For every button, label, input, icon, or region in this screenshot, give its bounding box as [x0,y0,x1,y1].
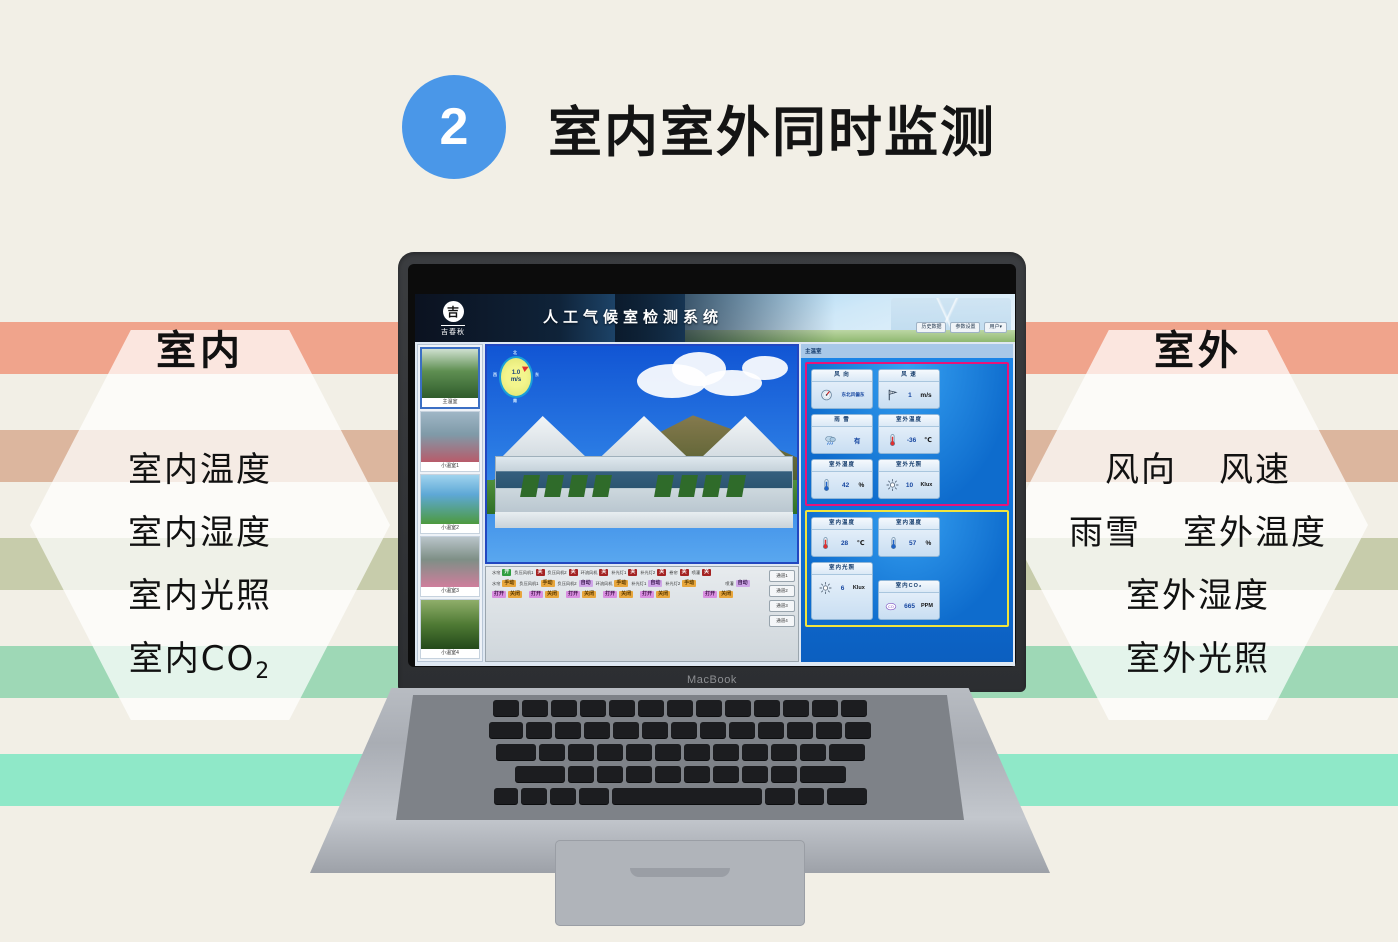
nav-history-button[interactable]: 历史数据 [916,322,946,333]
plant-bed [544,475,564,497]
open-button[interactable]: 打开 [603,591,617,598]
control-item[interactable]: 水帘 开 [492,569,511,576]
greenhouse-3d-model [495,406,793,528]
card-value: 57 [909,540,916,547]
wind-speed-value: 1.0 [512,370,520,377]
control-item[interactable]: 卷帘 关 [669,569,688,576]
card-value: 10 [906,482,913,489]
control-state-chip[interactable]: 开 [502,569,511,576]
card-body: 6 Klux [812,575,872,601]
key[interactable] [568,766,594,782]
thumbnail-caption: 小温室4 [421,649,479,658]
co2-subscript: 2 [255,659,271,684]
card-body: 东北风偏东 [812,382,872,408]
outdoor-item-row-1: 风向风速 [998,442,1398,491]
control-mode-chip[interactable]: 自动 [579,580,593,587]
open-close-pair[interactable]: 打开 关闭 [703,591,733,598]
card-title: 雨 雪 [812,415,872,427]
raincloud-icon [824,431,837,449]
app-nav: 历史数据 参数设置 用户▾ [916,322,1007,333]
key-command[interactable] [579,788,609,804]
key-command-right[interactable] [765,788,795,804]
compass-north-label: 北 [513,351,517,355]
plant-bed [702,475,722,497]
card-outdoor-humidity: 室外湿度 42 % [811,459,873,499]
key[interactable] [580,700,606,716]
card-title: 室内CO₂ [879,581,939,593]
control-row-mode: 水帘 手动 负压风机1 手动 负压风机2 自动 环流风机 手动 [486,578,798,589]
card-wind-direction: 风 向 东北风偏东 [811,369,873,409]
card-title: 室外光照 [879,460,939,472]
control-state-chip[interactable]: 关 [680,569,689,576]
card-value: 28 [841,540,848,547]
control-item[interactable]: 补光灯1 自动 [631,580,662,587]
control-label: 水帘 [492,570,500,576]
key[interactable] [700,722,726,738]
card-unit: % [859,482,865,489]
control-label: 补光灯1 [611,570,626,576]
control-label: 补光灯2 [640,570,655,576]
plant-bed [726,475,746,497]
control-label: 负压风机1 [514,570,533,576]
open-close-pair[interactable]: 打开 关闭 [492,591,522,598]
key[interactable] [812,700,838,716]
control-state-chip[interactable]: 关 [599,569,608,576]
thumbnail-caption: 小温室2 [421,524,479,533]
thermometer-red-icon [886,431,899,449]
greenhouse-thumbnail-list: 主温室 小温室1 小温室2 小温室3 [417,344,483,662]
key-option[interactable] [550,788,576,804]
laptop-lid-notch [630,868,730,877]
key[interactable] [597,766,623,782]
outdoor-item-row-3: 室外湿度 [998,568,1398,617]
card-unit: ℃ [857,539,865,547]
key-shift[interactable] [515,766,565,782]
key[interactable] [758,722,784,738]
open-button[interactable]: 打开 [566,591,580,598]
key[interactable] [667,700,693,716]
close-button[interactable]: 关闭 [656,591,670,598]
indoor-item-label: 室内光照 [128,576,272,616]
monitoring-app: 吉 吉春秋 人工气候室检测系统 历史数据 参数设置 用户▾ [415,294,1015,666]
control-item[interactable]: 喷灌 自动 [725,580,749,587]
indoor-item-label: 室内CO [129,639,256,679]
card-body: CO 665 PPM [879,593,939,619]
thumbnail-small-greenhouse-3[interactable]: 小温室3 [420,536,480,596]
key[interactable] [713,744,739,760]
key[interactable] [671,722,697,738]
card-unit: Klux [853,585,865,591]
key[interactable] [845,722,871,738]
key[interactable] [729,722,755,738]
key[interactable] [493,700,519,716]
open-close-pair[interactable]: 打开 关闭 [603,591,633,598]
laptop-trackpad[interactable] [555,840,805,926]
thumbnail-caption: 小温室3 [421,587,479,596]
key[interactable] [655,744,681,760]
control-mode-chip[interactable]: 手动 [614,580,628,587]
app-header: 吉 吉春秋 人工气候室检测系统 历史数据 参数设置 用户▾ [415,294,1015,342]
sensor-data-column: 主温室 风 向 [801,344,1013,662]
close-button[interactable]: 关闭 [582,591,596,598]
outdoor-item-humidity: 室外湿度 [1126,576,1270,616]
card-value: 1 [908,392,912,399]
key[interactable] [551,700,577,716]
key[interactable] [638,700,664,716]
key-arrow-cluster[interactable] [827,788,867,804]
control-label: 环流风机 [596,581,613,587]
open-close-pair[interactable]: 打开 关闭 [529,591,559,598]
card-outdoor-light: 室外光照 10 [878,459,940,499]
key[interactable] [771,766,797,782]
poster-root: 2 室内室外同时监测 室内 室内温度 室内湿度 室内光照 室内CO2 室外 风向… [0,0,1398,942]
thumbnail-image [421,600,479,649]
compass-west-label: 西 [493,373,497,377]
key[interactable] [584,722,610,738]
key[interactable] [771,744,797,760]
current-room-tab[interactable]: 主温室 [801,344,1013,358]
open-button[interactable]: 打开 [703,591,717,598]
key[interactable] [841,700,867,716]
thermometer-red-icon [819,534,832,552]
nav-user-menu[interactable]: 用户▾ [984,322,1007,333]
laptop-screen: 吉 吉春秋 人工气候室检测系统 历史数据 参数设置 用户▾ [415,294,1015,666]
keyboard-row [396,744,964,760]
thumbnail-main-greenhouse[interactable]: 主温室 [420,347,480,409]
card-body: 28 ℃ [812,530,872,556]
card-wind-speed: 风 速 1 m/s [878,369,940,409]
control-row-openclose: 打开 关闭 打开 关闭 打开 关闭 打开 关闭 [486,589,798,600]
control-label: 补光灯2 [665,581,680,587]
card-outdoor-temperature: 室外温度 -36 ℃ [878,414,940,454]
close-button[interactable]: 关闭 [545,591,559,598]
key[interactable] [626,744,652,760]
card-title: 室内湿度 [879,518,939,530]
keyboard-row [396,766,964,782]
wind-compass-widget: 1.0 m/s 北 南 东 西 [499,356,533,398]
card-body: -36 ℃ [879,427,939,453]
control-label: 负压风机2 [558,581,577,587]
indoor-item-label: 室内湿度 [128,513,272,553]
laptop-mockup: MacBook 吉 吉春秋 人工气候室检测系统 历史数据 参数 [310,252,1050,912]
channel-button-3[interactable]: 通道3 [769,600,795,612]
control-item[interactable]: 喷灌 关 [692,569,711,576]
card-indoor-co2: 室内CO₂ CO 665 PPM [878,580,940,620]
card-title: 室外湿度 [812,460,872,472]
control-row-onoff: 水帘 开 负压风机1 关 负压风机2 关 环流风机 关 [486,567,798,578]
key[interactable] [597,744,623,760]
wind-direction-needle-icon [522,364,530,372]
key[interactable] [642,722,668,738]
channel-button-4[interactable]: 通道4 [769,615,795,627]
open-button[interactable]: 打开 [640,591,654,598]
headline: 2 室内室外同时监测 [0,72,1398,182]
logo-brand-name: 吉春秋 [441,325,465,337]
app-title: 人工气候室检测系统 [543,306,723,327]
open-button[interactable]: 打开 [529,591,543,598]
control-label: 水帘 [492,581,500,587]
control-label: 卷帘 [669,570,677,576]
card-body: 10 Klux [879,472,939,498]
key[interactable] [526,722,552,738]
control-label: 环流风机 [581,570,598,576]
control-mode-chip[interactable]: 自动 [736,580,750,587]
channel-button-column: 通道1 通道2 通道3 通道4 [769,570,795,627]
key[interactable] [800,744,826,760]
control-item[interactable]: 补光灯2 手动 [665,580,696,587]
card-value: 东北风偏东 [842,392,865,398]
key[interactable] [568,744,594,760]
keyboard-row [396,700,964,716]
card-title: 室外温度 [879,415,939,427]
compass-icon [820,386,833,404]
card-title: 风 向 [812,370,872,382]
greenhouse-floor [495,512,793,528]
card-indoor-humidity: 室内湿度 57 % [878,517,940,557]
key[interactable] [725,700,751,716]
thumbnail-small-greenhouse-1[interactable]: 小温室1 [420,411,480,471]
outdoor-card-grid: 风 向 东北风偏东 [811,369,1003,499]
outdoor-item-light: 室外光照 [1126,639,1270,679]
control-state-chip[interactable]: 关 [657,569,666,576]
greenhouse-body [495,456,793,514]
outdoor-item-wind-direction: 风向 [1105,450,1177,490]
keyboard-row [396,722,964,738]
sun-icon [819,579,832,597]
outdoor-item-temperature: 室外温度 [1183,513,1327,553]
nav-settings-button[interactable]: 参数设置 [950,322,980,333]
control-state-chip[interactable]: 关 [536,569,545,576]
outdoor-title: 室外 [998,318,1398,376]
thermometer-blue-icon [887,534,900,552]
key[interactable] [684,744,710,760]
key[interactable] [816,722,842,738]
control-state-chip[interactable]: 关 [569,569,578,576]
control-mode-chip[interactable]: 手动 [502,580,516,587]
windflag-icon [886,386,899,404]
close-button[interactable]: 关闭 [508,591,522,598]
control-state-chip[interactable]: 关 [702,569,711,576]
key[interactable] [609,700,635,716]
control-mode-chip[interactable]: 自动 [648,580,662,587]
outdoor-item-rain-snow: 雨雪 [1069,513,1141,553]
device-control-panel: 水帘 开 负压风机1 关 负压风机2 关 环流风机 关 [485,566,799,662]
card-unit: m/s [920,392,931,399]
control-item[interactable]: 负压风机1 关 [514,569,544,576]
key-fn[interactable] [494,788,518,804]
thumbnail-image [421,412,479,461]
page-title: 室内室外同时监测 [548,88,996,167]
card-unit: % [926,540,932,547]
plant-bed [592,475,612,497]
control-item[interactable]: 补光灯1 关 [611,569,637,576]
app-body: 主温室 小温室1 小温室2 小温室3 [415,342,1015,666]
compass-south-label: 南 [513,399,517,403]
outdoor-item-row-2: 雨雪室外温度 [998,505,1398,554]
control-label: 负压风机1 [519,581,538,587]
card-unit: PPM [921,603,933,609]
key[interactable] [613,722,639,738]
card-indoor-light: 室内光照 6 [811,562,873,620]
card-unit: Klux [920,482,932,488]
app-logo: 吉 吉春秋 [429,299,477,339]
open-close-pair[interactable]: 打开 关闭 [640,591,670,598]
control-state-chip[interactable]: 关 [628,569,637,576]
control-label: 补光灯1 [631,581,646,587]
card-indoor-temperature: 室内温度 28 ℃ [811,517,873,557]
control-item[interactable]: 负压风机1 手动 [519,580,554,587]
indoor-card-grid: 室内温度 28 ℃ [811,517,1003,620]
outdoor-sensor-panel: 风 向 东北风偏东 [805,362,1009,506]
card-unit: ℃ [924,436,932,444]
card-value: 42 [842,482,849,489]
control-item[interactable]: 负压风机2 关 [548,569,578,576]
key[interactable] [684,766,710,782]
control-item[interactable]: 环流风机 手动 [596,580,629,587]
channel-button-1[interactable]: 通道1 [769,570,795,582]
thermometer-blue-icon [820,476,833,494]
control-label: 喷灌 [692,570,700,576]
card-value: -36 [907,437,916,444]
key[interactable] [555,722,581,738]
channel-button-2[interactable]: 通道2 [769,585,795,597]
key[interactable] [742,766,768,782]
key-space[interactable] [612,788,762,804]
key[interactable] [713,766,739,782]
key[interactable] [626,766,652,782]
laptop-brand-label: MacBook [398,674,1026,686]
cloud-shape [742,356,788,380]
card-title: 风 速 [879,370,939,382]
sun-icon [886,476,899,494]
control-label: 负压风机2 [548,570,567,576]
card-body: 1 m/s [879,382,939,408]
thumbnail-image [421,537,479,586]
outdoor-item-row-4: 室外光照 [998,631,1398,680]
logo-seal-icon: 吉 [443,301,464,322]
compass-east-label: 东 [535,373,539,377]
card-body: 42 % [812,472,872,498]
open-close-pair[interactable]: 打开 关闭 [566,591,596,598]
key[interactable] [522,700,548,716]
keyboard-row [396,788,964,804]
key[interactable] [783,700,809,716]
control-item[interactable]: 补光灯2 关 [640,569,666,576]
thumbnail-caption: 小温室1 [421,462,479,471]
key-tab[interactable] [489,722,523,738]
outdoor-label-column: 室外 风向风速 雨雪室外温度 室外湿度 室外光照 [998,318,1398,694]
control-item[interactable]: 负压风机2 自动 [558,580,593,587]
key[interactable] [754,700,780,716]
card-title: 室内光照 [812,563,872,575]
card-body: 有 [812,427,872,453]
indoor-sensor-panel: 室内温度 28 ℃ [805,510,1009,627]
control-mode-chip[interactable]: 手动 [682,580,696,587]
card-title: 室内温度 [812,518,872,530]
outdoor-item-wind-speed: 风速 [1219,450,1291,490]
key-option-right[interactable] [798,788,824,804]
control-item[interactable]: 水帘 手动 [492,580,516,587]
control-item[interactable]: 环流风机 关 [581,569,609,576]
control-mode-chip[interactable]: 手动 [541,580,555,587]
card-value: 有 [854,435,861,445]
control-label: 喷灌 [725,581,733,587]
close-button[interactable]: 关闭 [719,591,733,598]
key[interactable] [696,700,722,716]
key[interactable] [742,744,768,760]
greenhouse-scene-view: 1.0 m/s 北 南 东 西 [485,344,799,564]
thumbnail-caption: 主温室 [422,398,478,407]
indoor-item-label: 室内温度 [128,450,272,490]
key[interactable] [539,744,565,760]
card-body: 57 % [879,530,939,556]
plant-bed [654,475,674,497]
card-value: 6 [841,585,845,592]
close-button[interactable]: 关闭 [619,591,633,598]
laptop-keyboard[interactable] [396,695,964,820]
co2-cloud-icon: CO [885,597,898,615]
open-button[interactable]: 打开 [492,591,506,598]
thumbnail-image [421,475,479,524]
key-return[interactable] [829,744,865,760]
wind-speed-unit: m/s [511,377,521,384]
card-value: 665 [904,603,915,610]
plant-bed [520,475,540,497]
key-shift-right[interactable] [800,766,846,782]
key-control[interactable] [521,788,547,804]
thumbnail-image [422,349,478,398]
svg-text:CO: CO [888,604,894,609]
step-number-badge: 2 [402,75,506,179]
key-caps-lock[interactable] [496,744,536,760]
plant-bed [678,475,698,497]
step-number: 2 [440,101,469,153]
key[interactable] [655,766,681,782]
thumbnail-small-greenhouse-4[interactable]: 小温室4 [420,599,480,659]
plant-bed [568,475,588,497]
thumbnail-small-greenhouse-2[interactable]: 小温室2 [420,474,480,534]
card-rain-snow: 雨 雪 有 [811,414,873,454]
key[interactable] [787,722,813,738]
